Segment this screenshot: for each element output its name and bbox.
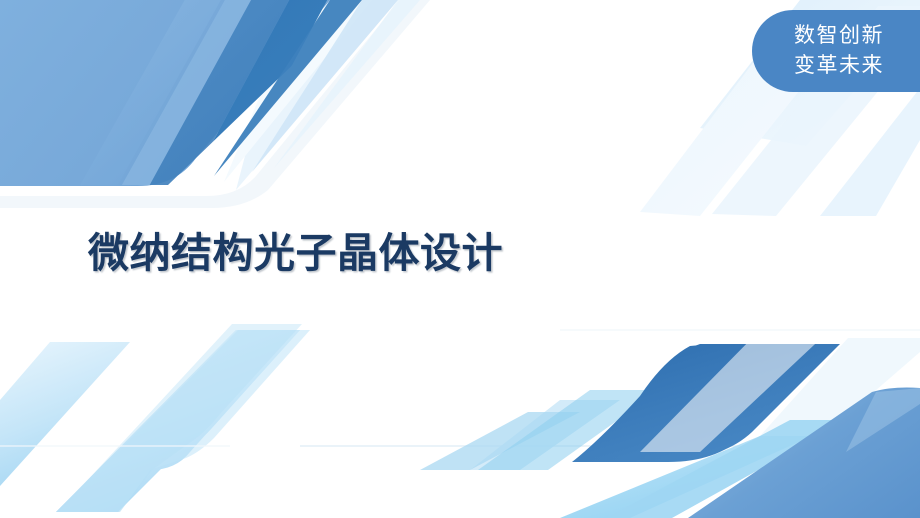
- title-block: 微纳结构光子晶体设计: [88, 230, 728, 277]
- corner-badge: 数智创新 变革未来: [752, 10, 920, 92]
- corner-badge-line-1: 数智创新: [794, 21, 884, 51]
- corner-badge-line-2: 变革未来: [794, 51, 884, 81]
- top-left-rounded-panel: [0, 0, 430, 210]
- slide-title: 微纳结构光子晶体设计: [88, 230, 728, 277]
- slide-canvas: 数智创新 变革未来 微纳结构光子晶体设计: [0, 0, 920, 518]
